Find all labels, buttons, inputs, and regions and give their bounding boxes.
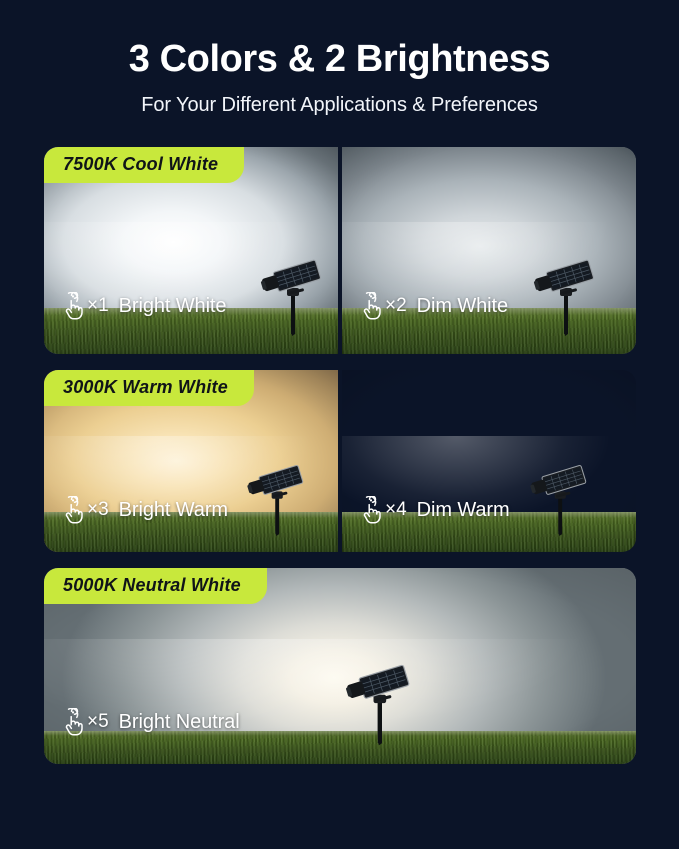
panel-dim-warm: ×4 Dim Warm [342,370,636,552]
mode-label: Dim White [417,295,508,318]
tap-count: ×4 [385,499,407,521]
solar-spotlight-graphic [532,250,606,336]
solar-spotlight-graphic [244,456,316,536]
caption-bright-warm: ×3 Bright Warm [60,496,228,524]
mode-label: Dim Warm [417,499,510,522]
caption-dim-white: ×2 Dim White [358,292,508,320]
badge-cool-white: 7500K Cool White [44,147,244,183]
tap-gesture-icon [60,708,86,736]
row-warm-white: 3000K Warm White [44,370,636,552]
solar-spotlight-graphic [344,654,422,746]
caption-dim-warm: ×4 Dim Warm [358,496,510,524]
panel-bright-white: 7500K Cool White [44,147,338,354]
tap-count: ×5 [87,711,109,733]
tap-gesture-icon [358,292,384,320]
page-title: 3 Colors & 2 Brightness [0,40,679,80]
panel-bright-neutral: 5000K Neutral White [44,568,636,764]
badge-warm-white: 3000K Warm White [44,370,254,406]
color-mode-rows: 7500K Cool White [44,147,636,764]
page-subtitle: For Your Different Applications & Prefer… [0,94,679,117]
infographic-page: 3 Colors & 2 Brightness For Your Differe… [0,0,679,849]
solar-spotlight-graphic [259,250,333,336]
header: 3 Colors & 2 Brightness For Your Differe… [0,0,679,117]
tap-count: ×2 [385,295,407,317]
panel-dim-white: ×2 Dim White [342,147,636,354]
tap-count: ×1 [87,295,109,317]
tap-count: ×3 [87,499,109,521]
mode-label: Bright White [119,295,227,318]
badge-neutral-white: 5000K Neutral White [44,568,267,604]
row-neutral-white: 5000K Neutral White [44,568,636,764]
tap-gesture-icon [60,496,86,524]
panel-bright-warm: 3000K Warm White [44,370,338,552]
tap-gesture-icon [358,496,384,524]
mode-label: Bright Neutral [119,711,240,734]
row-cool-white: 7500K Cool White [44,147,636,354]
solar-spotlight-graphic [527,456,599,536]
caption-bright-neutral: ×5 Bright Neutral [60,708,240,736]
caption-bright-white: ×1 Bright White [60,292,226,320]
mode-label: Bright Warm [119,499,228,522]
tap-gesture-icon [60,292,86,320]
